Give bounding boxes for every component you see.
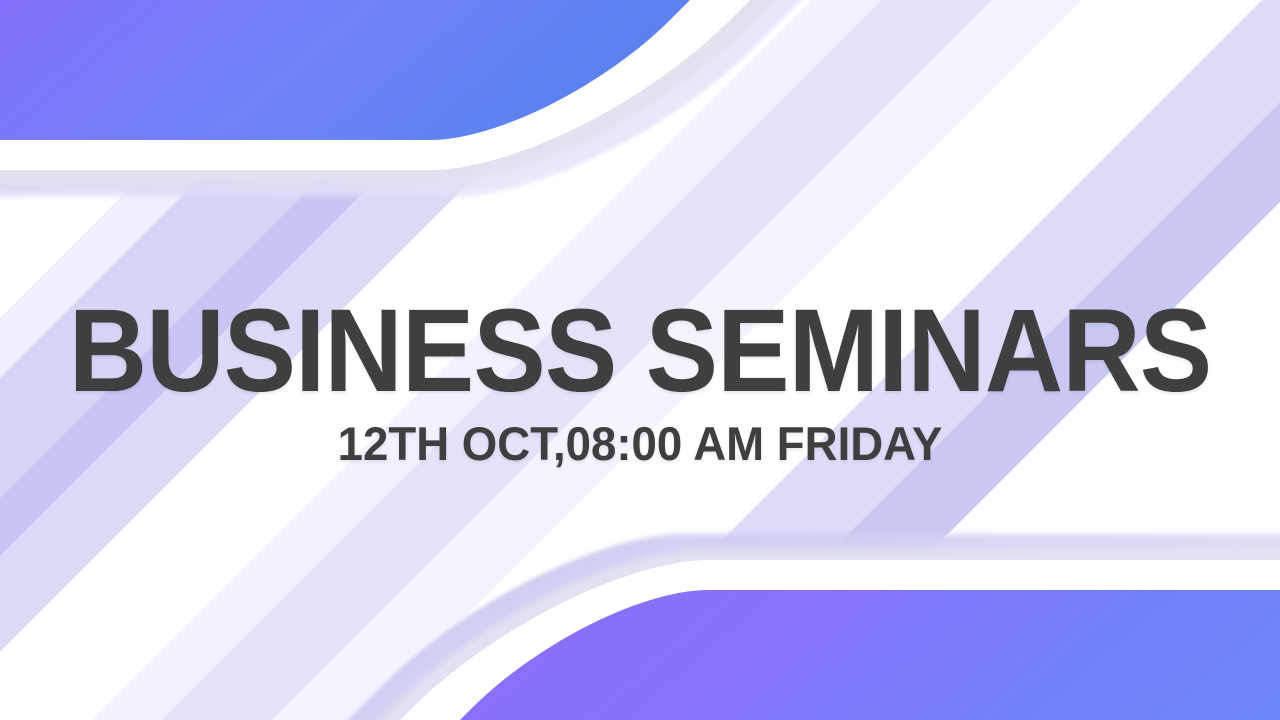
poster-text-block: BUSINESS SEMINARS 12TH OCT,08:00 AM FRID…	[0, 292, 1280, 467]
top-left-panel-fill	[0, 0, 1020, 140]
top-left-gradient-panel	[0, 0, 580, 170]
bottom-right-gradient-panel	[560, 560, 1280, 720]
poster-canvas: BUSINESS SEMINARS 12TH OCT,08:00 AM FRID…	[0, 0, 1280, 720]
page-title: BUSINESS SEMINARS	[51, 292, 1229, 410]
event-datetime-subtitle: 12TH OCT,08:00 AM FRIDAY	[19, 420, 1261, 467]
